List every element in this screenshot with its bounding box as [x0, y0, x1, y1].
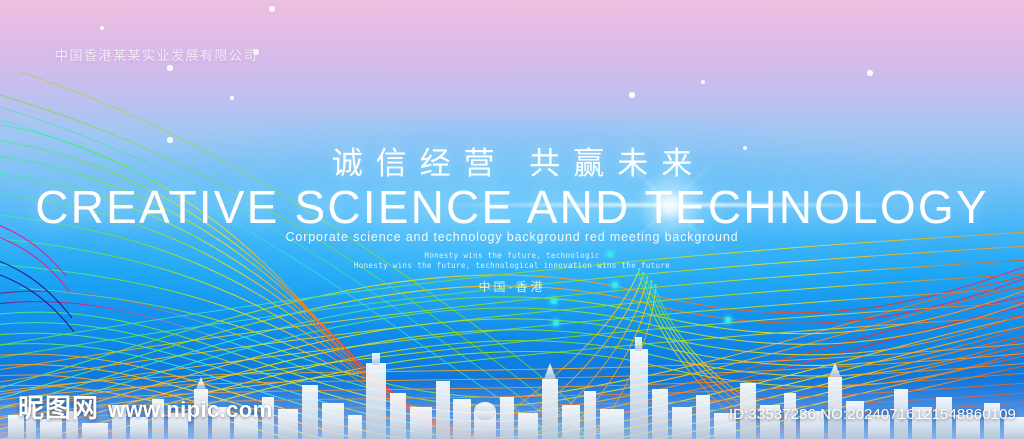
watermark-site-url: www.nipic.com — [108, 397, 273, 423]
banner-canvas: 中国香港某某实业发展有限公司 诚信经营 共赢未来 CREATIVE SCIENC… — [0, 0, 1024, 439]
tagline-line-2: Honesty wins the future, technological i… — [0, 261, 1024, 270]
watermark-site-name: 昵图网 — [18, 388, 99, 425]
locale-label: 中国·香港 — [0, 278, 1024, 295]
company-name: 中国香港某某实业发展有限公司 — [55, 45, 258, 64]
tagline-line-1: Honesty wins the future, technologic — [0, 251, 1024, 260]
decorative-dot — [269, 6, 275, 12]
headline-chinese: 诚信经营 共赢未来 — [0, 138, 1024, 183]
headline-english: CREATIVE SCIENCE AND TECHNOLOGY — [0, 180, 1024, 234]
decorative-dot — [629, 92, 634, 97]
subtitle-english: Corporate science and technology backgro… — [0, 230, 1024, 244]
decorative-dot — [167, 65, 172, 70]
asset-id-text: ID:33537236 NO:20240716121548860109 — [729, 406, 1016, 423]
decorative-dot — [725, 317, 730, 322]
decorative-dot — [867, 70, 872, 75]
decorative-dot — [551, 298, 556, 303]
watermark[interactable]: 昵图网 www.nipic.com — [18, 388, 273, 425]
